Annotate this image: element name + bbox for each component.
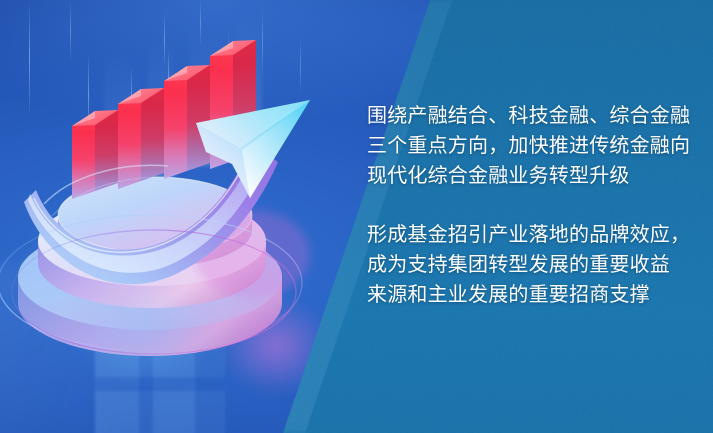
copy-line: 围绕产融结合、科技金融、综合金融	[367, 101, 697, 131]
copy-line: 三个重点方向，加快推进传统金融向	[367, 131, 697, 161]
copy-line: 来源和主业发展的重要招商支撑	[367, 280, 697, 310]
banner-copy: 围绕产融结合、科技金融、综合金融 三个重点方向，加快推进传统金融向 现代化综合金…	[367, 101, 697, 310]
paragraph-2: 形成基金招引产业落地的品牌效应， 成为支持集团转型发展的重要收益 来源和主业发展…	[367, 220, 697, 310]
finance-banner: 围绕产融结合、科技金融、综合金融 三个重点方向，加快推进传统金融向 现代化综合金…	[0, 0, 713, 433]
copy-line: 形成基金招引产业落地的品牌效应，	[367, 220, 697, 250]
copy-line: 现代化综合金融业务转型升级	[367, 161, 697, 191]
paragraph-1: 围绕产融结合、科技金融、综合金融 三个重点方向，加快推进传统金融向 现代化综合金…	[367, 101, 697, 191]
copy-line: 成为支持集团转型发展的重要收益	[367, 250, 697, 280]
